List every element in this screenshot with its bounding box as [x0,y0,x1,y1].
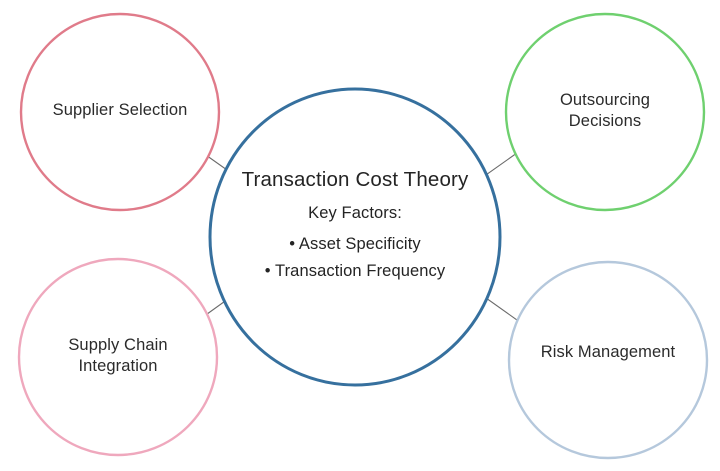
diagram-canvas: Supplier Selection Outsourcing Decisions… [0,0,720,471]
node-circle-supply-chain-integration[interactable] [19,259,217,455]
center-text-block: Transaction Cost Theory Key Factors: • A… [205,168,505,285]
center-bullet-item: • Transaction Frequency [205,258,505,285]
center-title: Transaction Cost Theory [205,168,505,193]
center-bullet-list: • Asset Specificity • Transaction Freque… [205,231,505,284]
center-bullet-item: • Asset Specificity [205,231,505,258]
node-circle-outsourcing-decisions[interactable] [506,14,704,210]
node-circle-risk-management[interactable] [509,262,707,458]
node-circle-supplier-selection[interactable] [21,14,219,210]
center-subtitle: Key Factors: [205,204,505,224]
